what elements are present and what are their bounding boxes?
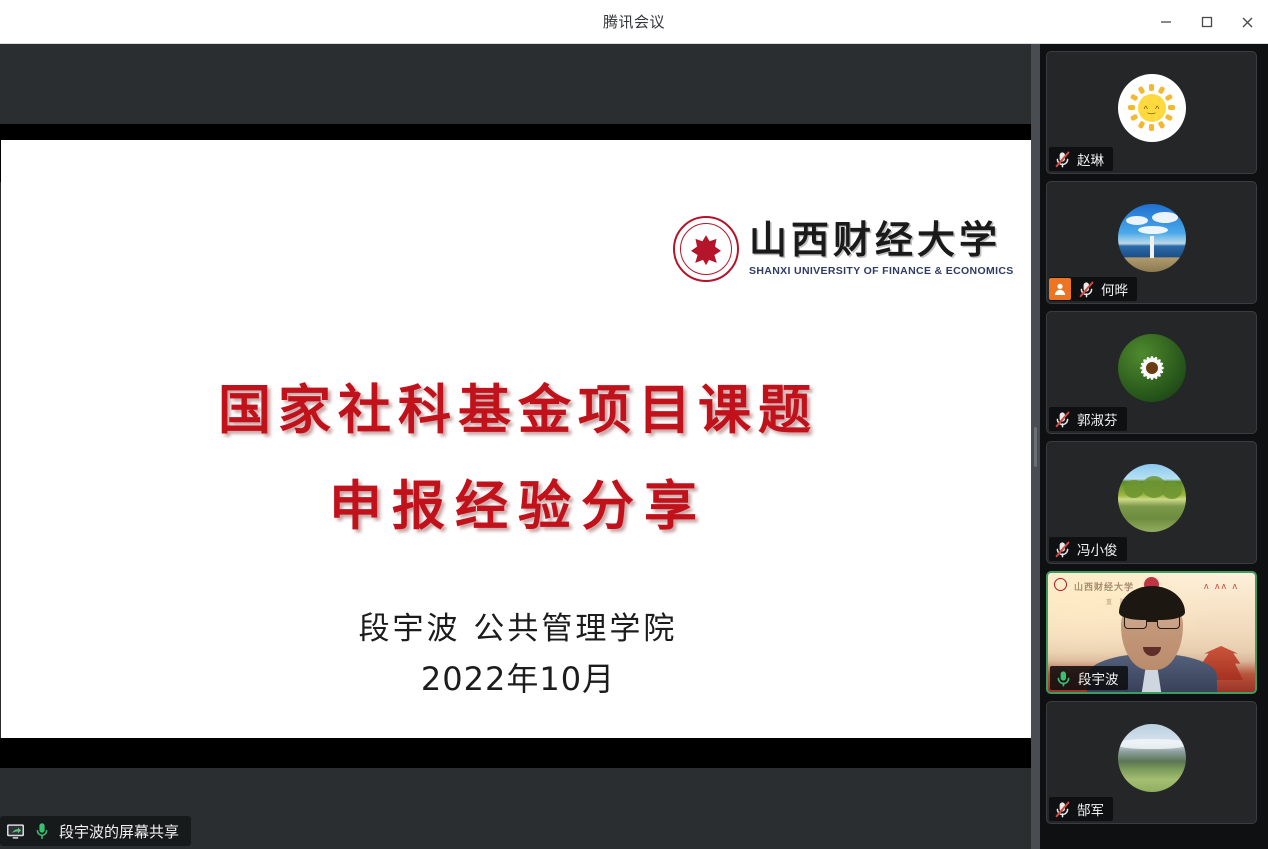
window-titlebar: 腾讯会议 [0, 0, 1268, 44]
host-badge-icon [1049, 278, 1071, 300]
divider-grip [1034, 427, 1037, 467]
participant-nameplate: 段宇波 [1050, 666, 1128, 690]
trees-avatar [1118, 464, 1186, 532]
letterbox-bottom [0, 738, 1031, 768]
participant-tile[interactable]: 何晔 [1046, 181, 1257, 304]
close-button[interactable] [1227, 0, 1268, 44]
participant-tile-active-speaker[interactable]: 山西财经大学 重 阳 ᴧ ᴧᴧ ᴧ [1046, 571, 1257, 694]
participant-name: 郜军 [1077, 799, 1104, 819]
tencent-meeting-window: 腾讯会议 [0, 0, 1268, 849]
shared-screen-stage[interactable]: 山西财经大学 SHANXI UNIVERSITY OF FINANCE & EC… [0, 44, 1031, 849]
mic-muted-icon [1076, 279, 1096, 299]
participant-name: 冯小俊 [1077, 539, 1118, 559]
panel-divider-handle[interactable] [1031, 44, 1040, 849]
window-controls [1145, 0, 1268, 44]
participant-tile[interactable]: 冯小俊 [1046, 441, 1257, 564]
participant-tile[interactable]: 郭淑芬 [1046, 311, 1257, 434]
screen-share-banner: 段宇波的屏幕共享 [0, 816, 191, 846]
university-name-en: SHANXI UNIVERSITY OF FINANCE & ECONOMICS [749, 265, 1014, 277]
participant-name: 何晔 [1101, 279, 1128, 299]
mic-on-icon [32, 821, 52, 841]
participant-nameplate: 冯小俊 [1049, 537, 1127, 561]
participant-nameplate: 郜军 [1049, 797, 1113, 821]
sun-avatar: ^‿^ [1118, 74, 1186, 142]
hill-avatar [1118, 724, 1186, 792]
slide-presenter: 段宇波 公共管理学院 [1, 603, 1031, 648]
participant-tile[interactable]: 郜军 [1046, 701, 1257, 824]
participant-nameplate: 赵琳 [1049, 147, 1113, 171]
screen-share-icon [5, 821, 25, 841]
mic-on-icon [1053, 668, 1073, 688]
participant-filmstrip[interactable]: ^‿^ 赵琳 [1040, 44, 1268, 849]
mic-muted-icon [1052, 799, 1072, 819]
participant-name: 赵琳 [1077, 149, 1104, 169]
slide-title: 国家社科基金项目课题 申报经验分享 [1, 362, 1031, 554]
screen-share-label: 段宇波的屏幕共享 [59, 821, 179, 842]
slide-title-line2: 申报经验分享 [1, 458, 1031, 554]
mic-muted-icon [1052, 409, 1072, 429]
mic-muted-icon [1052, 539, 1072, 559]
participant-tile[interactable]: ^‿^ 赵琳 [1046, 51, 1257, 174]
presentation-slide: 山西财经大学 SHANXI UNIVERSITY OF FINANCE & EC… [1, 140, 1031, 738]
participant-name: 郭淑芬 [1077, 409, 1118, 429]
maximize-button[interactable] [1186, 0, 1227, 44]
mic-muted-icon [1052, 149, 1072, 169]
daisy-avatar [1118, 334, 1186, 402]
beach-avatar [1118, 204, 1186, 272]
slide-title-line1: 国家社科基金项目课题 [1, 362, 1031, 458]
university-logo: 山西财经大学 SHANXI UNIVERSITY OF FINANCE & EC… [673, 216, 1014, 282]
participant-name: 段宇波 [1078, 668, 1119, 688]
participant-nameplate: 何晔 [1049, 277, 1137, 301]
university-name-cn: 山西财经大学 [749, 221, 1014, 259]
window-title: 腾讯会议 [603, 11, 665, 32]
participant-nameplate: 郭淑芬 [1049, 407, 1127, 431]
slide-date: 2022年10月 [1, 654, 1031, 700]
minimize-button[interactable] [1145, 0, 1186, 44]
university-seal-icon [673, 216, 739, 282]
